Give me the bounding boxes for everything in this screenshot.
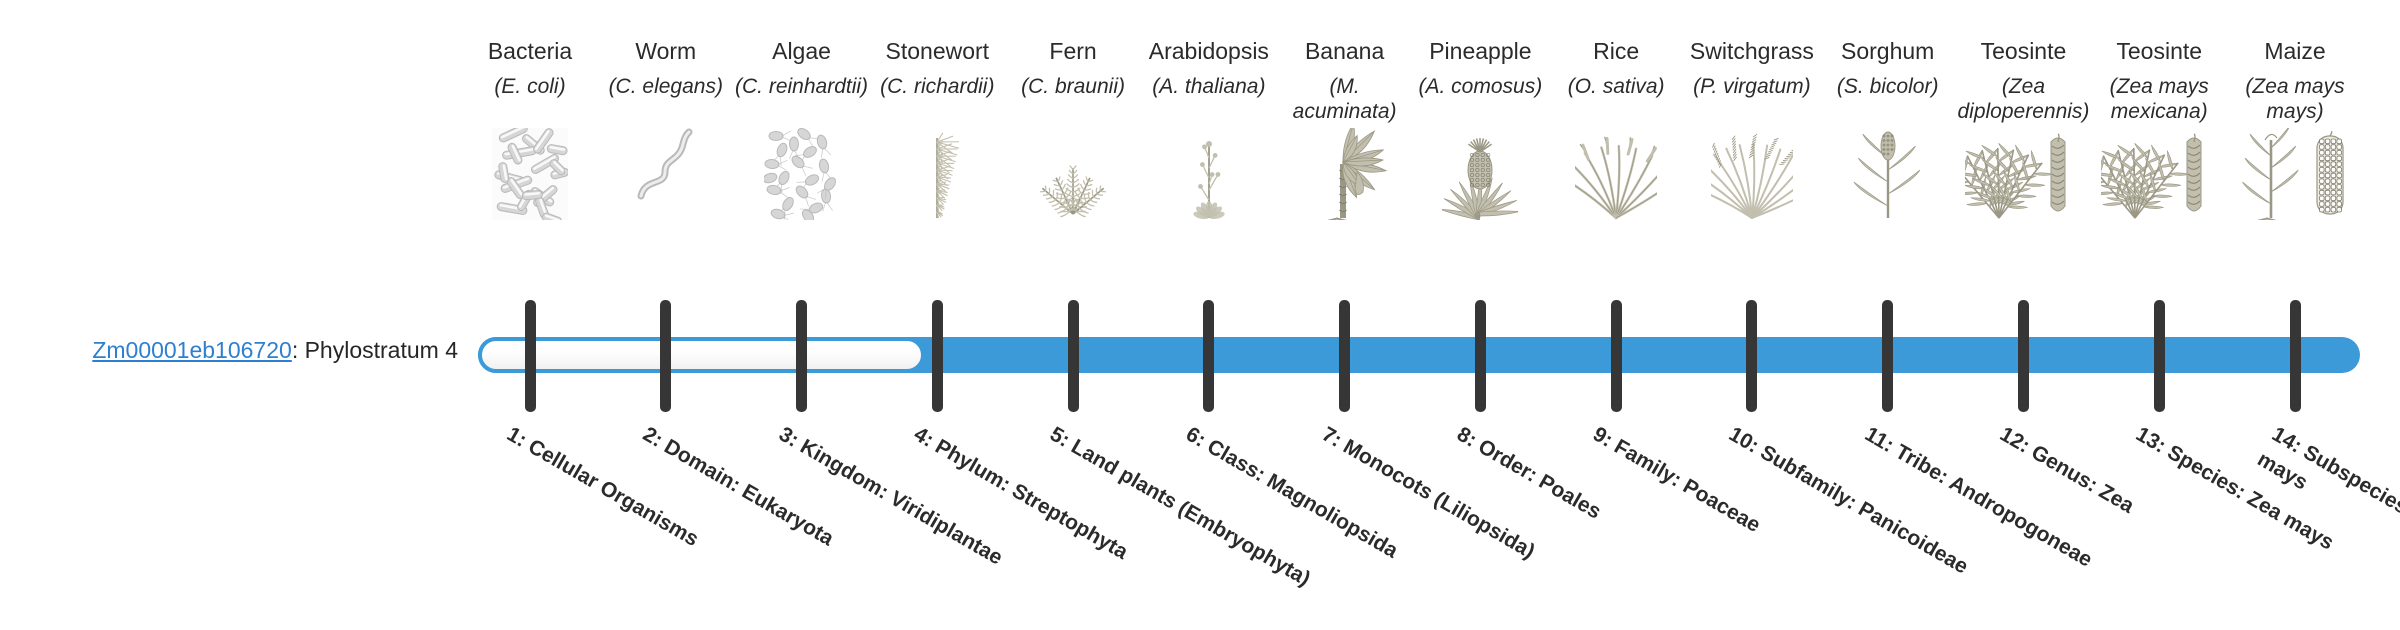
species-common-name: Banana <box>1278 38 1412 65</box>
species-column: Worm(C. elegans) <box>599 0 733 220</box>
species-column: Bacteria(E. coli) <box>463 0 597 220</box>
phylostratum-tick <box>1068 300 1079 412</box>
phylostratum-value-text: Phylostratum 4 <box>305 337 458 363</box>
algae-cells-icon <box>735 128 869 220</box>
species-column: Stonewort(C. richardii) <box>870 0 1004 220</box>
species-column: Maize(Zea mays mays) <box>2228 0 2362 220</box>
species-common-name: Bacteria <box>463 38 597 65</box>
rank-number: 4: <box>910 423 938 452</box>
species-common-name: Switchgrass <box>1685 38 1819 65</box>
gene-phylostratum-label: Zm00001eb106720: Phylostratum 4 <box>28 336 458 364</box>
phylostratum-tick <box>1882 300 1893 412</box>
species-common-name: Teosinte <box>2092 38 2226 65</box>
phylostratum-tick <box>2018 300 2029 412</box>
rank-name: Order: Poales <box>1475 435 1606 524</box>
species-latin-name: (O. sativa) <box>1549 74 1683 124</box>
arabidopsis-plant-icon <box>1142 128 1276 220</box>
rank-number: 13: <box>2132 423 2170 458</box>
species-latin-name: (C. elegans) <box>599 74 733 124</box>
phylostratum-tick <box>525 300 536 412</box>
species-column: Algae(C. reinhardtii) <box>735 0 869 220</box>
species-common-name: Arabidopsis <box>1142 38 1276 65</box>
phylostratum-tick <box>1203 300 1214 412</box>
stonewort-icon <box>870 128 1004 220</box>
rank-number: 5: <box>1046 423 1074 452</box>
rank-number: 10: <box>1725 423 1763 458</box>
rank-number: 7: <box>1318 423 1346 452</box>
phylostratum-bar[interactable] <box>478 337 2360 373</box>
phylostratum-tick <box>1475 300 1486 412</box>
maize-plant-ear-icon <box>2228 128 2362 220</box>
species-latin-name: (C. braunii) <box>1006 74 1140 124</box>
rank-number: 9: <box>1589 423 1617 452</box>
rank-number: 6: <box>1182 423 1210 452</box>
species-column: Arabidopsis(A. thaliana) <box>1142 0 1276 220</box>
phylostratum-tick <box>932 300 943 412</box>
species-latin-name: (Zea mays mays) <box>2228 74 2362 124</box>
species-common-name: Rice <box>1549 38 1683 65</box>
bacteria-rods-icon <box>463 128 597 220</box>
phylostratum-tick <box>2290 300 2301 412</box>
gene-label-separator: : <box>292 337 305 363</box>
species-latin-name: (C. richardii) <box>870 74 1004 124</box>
phylostratum-tick <box>1611 300 1622 412</box>
species-latin-name: (Zea diploperennis) <box>1956 74 2090 124</box>
pineapple-plant-icon <box>1413 128 1547 220</box>
species-latin-name: (S. bicolor) <box>1821 74 1955 124</box>
species-column: Switchgrass(P. virgatum) <box>1685 0 1819 220</box>
phylostratum-tick <box>1339 300 1350 412</box>
species-column: Fern(C. braunii) <box>1006 0 1140 220</box>
species-column: Banana(M. acuminata) <box>1278 0 1412 220</box>
teosinte-plant-ear-icon <box>1956 128 2090 220</box>
species-common-name: Fern <box>1006 38 1140 65</box>
species-column: Sorghum(S. bicolor) <box>1821 0 1955 220</box>
rank-number: 1: <box>503 423 531 452</box>
rank-name: Land plants (Embryophyta) <box>1067 435 1314 591</box>
species-column: Pineapple(A. comosus) <box>1413 0 1547 220</box>
species-column: Teosinte(Zea diploperennis) <box>1956 0 2090 220</box>
gene-id-link[interactable]: Zm00001eb106720 <box>92 337 292 363</box>
species-common-name: Algae <box>735 38 869 65</box>
species-column: Teosinte(Zea mays mexicana) <box>2092 0 2226 220</box>
banana-plant-icon <box>1278 128 1412 220</box>
teosinte-plant-ear-icon <box>2092 128 2226 220</box>
phylostratum-bar-empty-track <box>478 337 925 373</box>
rank-number: 3: <box>775 423 803 452</box>
phylostratum-tick <box>2154 300 2165 412</box>
species-common-name: Sorghum <box>1821 38 1955 65</box>
species-latin-name: (Zea mays mexicana) <box>2092 74 2226 124</box>
species-column: Rice(O. sativa) <box>1549 0 1683 220</box>
phylostratum-tick <box>796 300 807 412</box>
phylostratum-tick <box>660 300 671 412</box>
species-latin-name: (P. virgatum) <box>1685 74 1819 124</box>
fern-frond-icon <box>1006 128 1140 220</box>
rank-number: 12: <box>1996 423 2034 458</box>
species-latin-name: (E. coli) <box>463 74 597 124</box>
rice-plant-icon <box>1549 128 1683 220</box>
species-latin-name: (A. comosus) <box>1413 74 1547 124</box>
species-latin-name: (C. reinhardtii) <box>735 74 869 124</box>
sorghum-plant-icon <box>1821 128 1955 220</box>
species-latin-name: (M. acuminata) <box>1278 74 1412 124</box>
rank-number: 11: <box>1861 423 1898 458</box>
species-common-name: Teosinte <box>1956 38 2090 65</box>
species-common-name: Stonewort <box>870 38 1004 65</box>
rank-name: Genus: Zea <box>2028 441 2139 518</box>
switchgrass-plant-icon <box>1685 128 1819 220</box>
species-common-name: Maize <box>2228 38 2362 65</box>
species-common-name: Worm <box>599 38 733 65</box>
phylostratum-tick <box>1746 300 1757 412</box>
nematode-worm-icon <box>599 128 733 220</box>
rank-number: 2: <box>639 423 667 452</box>
species-common-name: Pineapple <box>1413 38 1547 65</box>
species-latin-name: (A. thaliana) <box>1142 74 1276 124</box>
